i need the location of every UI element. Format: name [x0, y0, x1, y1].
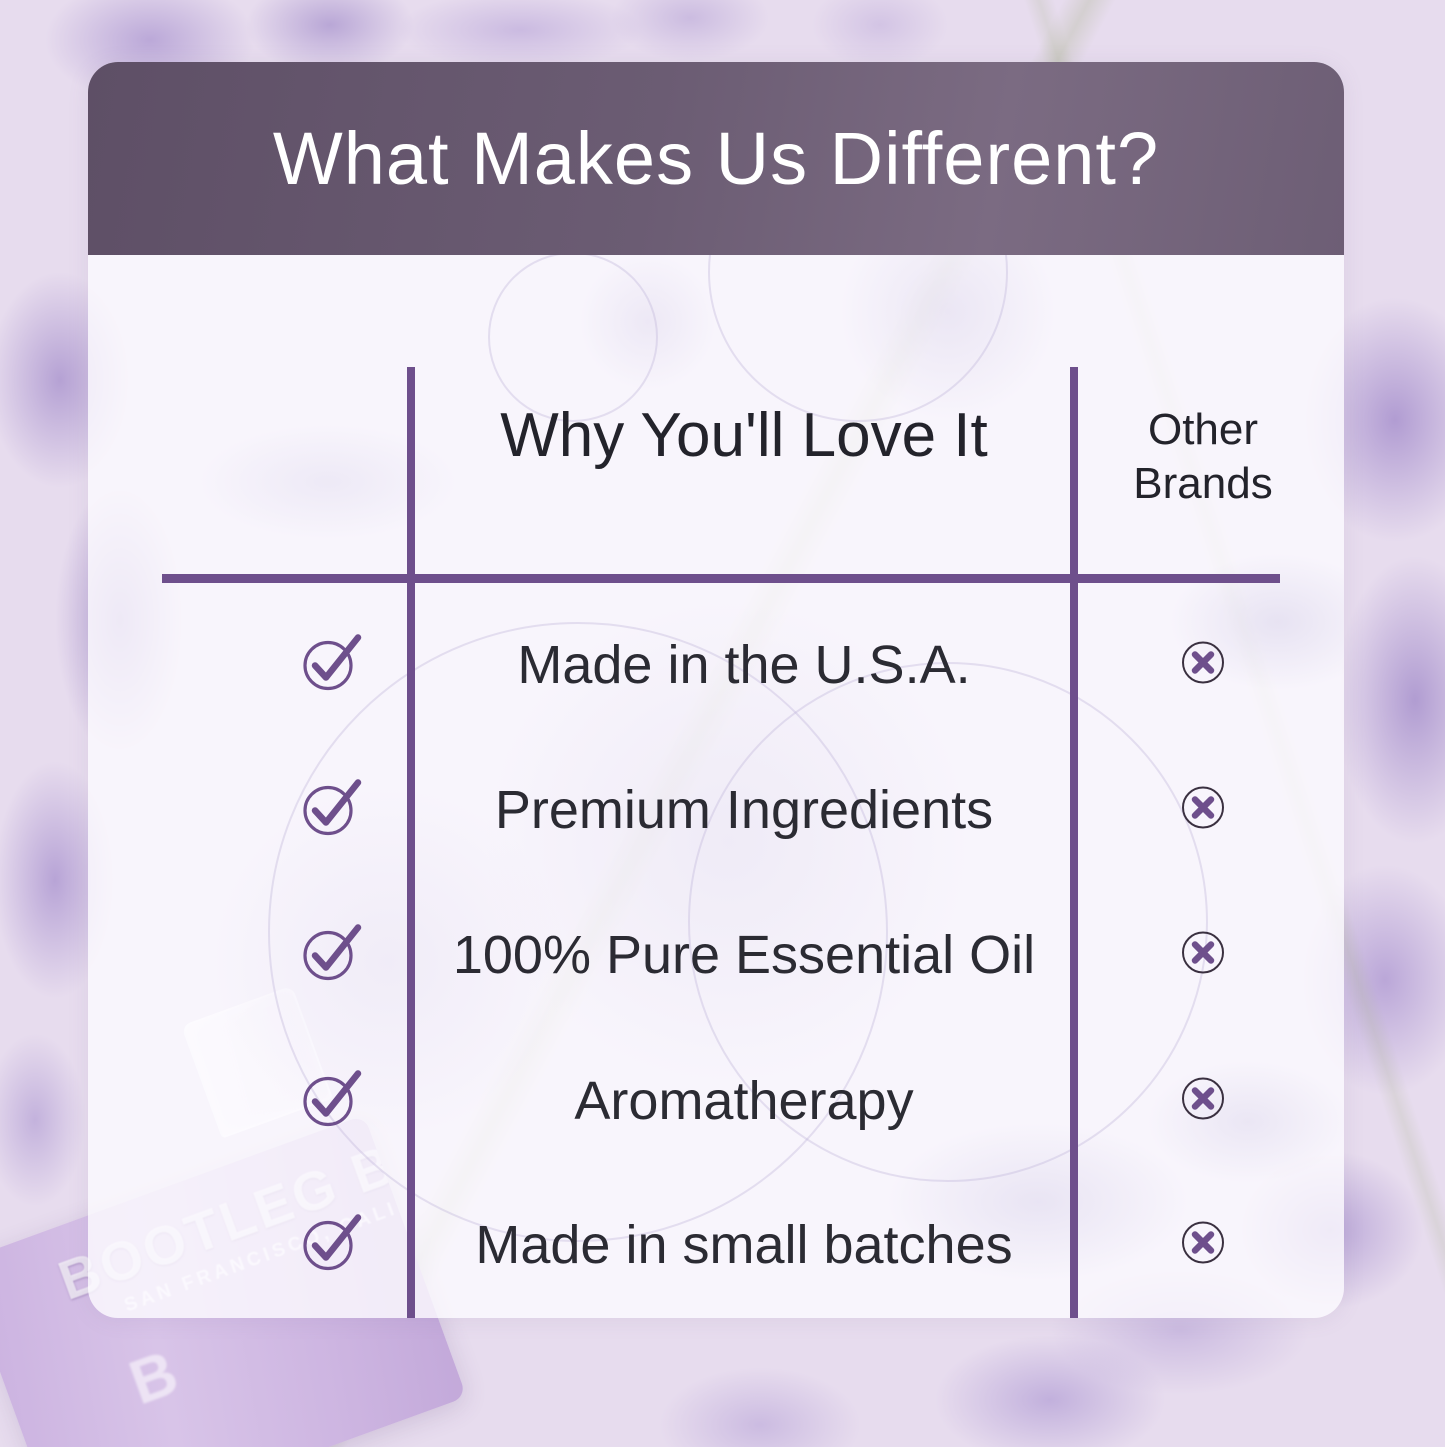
page-title: What Makes Us Different?	[273, 122, 1159, 196]
feature-label: Made in small batches	[419, 1215, 1069, 1275]
our-brand-cell	[256, 1071, 406, 1131]
table-row: Aromatherapy	[88, 1071, 1344, 1131]
column-divider-left	[407, 367, 415, 1318]
feature-label: 100% Pure Essential Oil	[419, 925, 1069, 985]
cross-icon	[1180, 1220, 1226, 1271]
header-divider	[162, 574, 1280, 583]
cross-icon	[1180, 640, 1226, 691]
check-icon	[294, 1062, 368, 1141]
cross-icon	[1180, 785, 1226, 836]
check-icon	[294, 771, 368, 850]
our-brand-cell	[256, 635, 406, 695]
feature-label: Premium Ingredients	[419, 780, 1069, 840]
our-brand-cell	[256, 780, 406, 840]
product-sub-text: B	[121, 1337, 187, 1419]
other-brands-cell	[1088, 1071, 1318, 1131]
card-header-banner: What Makes Us Different?	[88, 62, 1344, 255]
column-header-benefit: Why You'll Love It	[419, 400, 1069, 471]
table-row: 100% Pure Essential Oil	[88, 925, 1344, 985]
table-row: Premium Ingredients	[88, 780, 1344, 840]
feature-label: Made in the U.S.A.	[419, 635, 1069, 695]
other-brands-cell	[1088, 1215, 1318, 1275]
other-brands-cell	[1088, 780, 1318, 840]
cross-icon	[1180, 1076, 1226, 1127]
other-brands-cell	[1088, 635, 1318, 695]
our-brand-cell	[256, 925, 406, 985]
column-divider-right	[1070, 367, 1078, 1318]
column-header-other-brands: Other Brands	[1088, 403, 1318, 510]
column-header-other-line2: Brands	[1133, 459, 1272, 508]
check-icon	[294, 1206, 368, 1285]
infographic-page: BOOTLEG BATH SAN FRANCISCO, CALIFORNIA B…	[0, 0, 1445, 1447]
our-brand-cell	[256, 1215, 406, 1275]
table-row: Made in small batches	[88, 1215, 1344, 1275]
other-brands-cell	[1088, 925, 1318, 985]
cross-icon	[1180, 930, 1226, 981]
comparison-card: What Makes Us Different? Why You'll Love…	[88, 62, 1344, 1318]
comparison-table: Why You'll Love It Other Brands Made in …	[88, 255, 1344, 1318]
check-icon	[294, 916, 368, 995]
column-header-other-line1: Other	[1148, 405, 1258, 454]
table-row: Made in the U.S.A.	[88, 635, 1344, 695]
feature-label: Aromatherapy	[419, 1071, 1069, 1131]
check-icon	[294, 626, 368, 705]
